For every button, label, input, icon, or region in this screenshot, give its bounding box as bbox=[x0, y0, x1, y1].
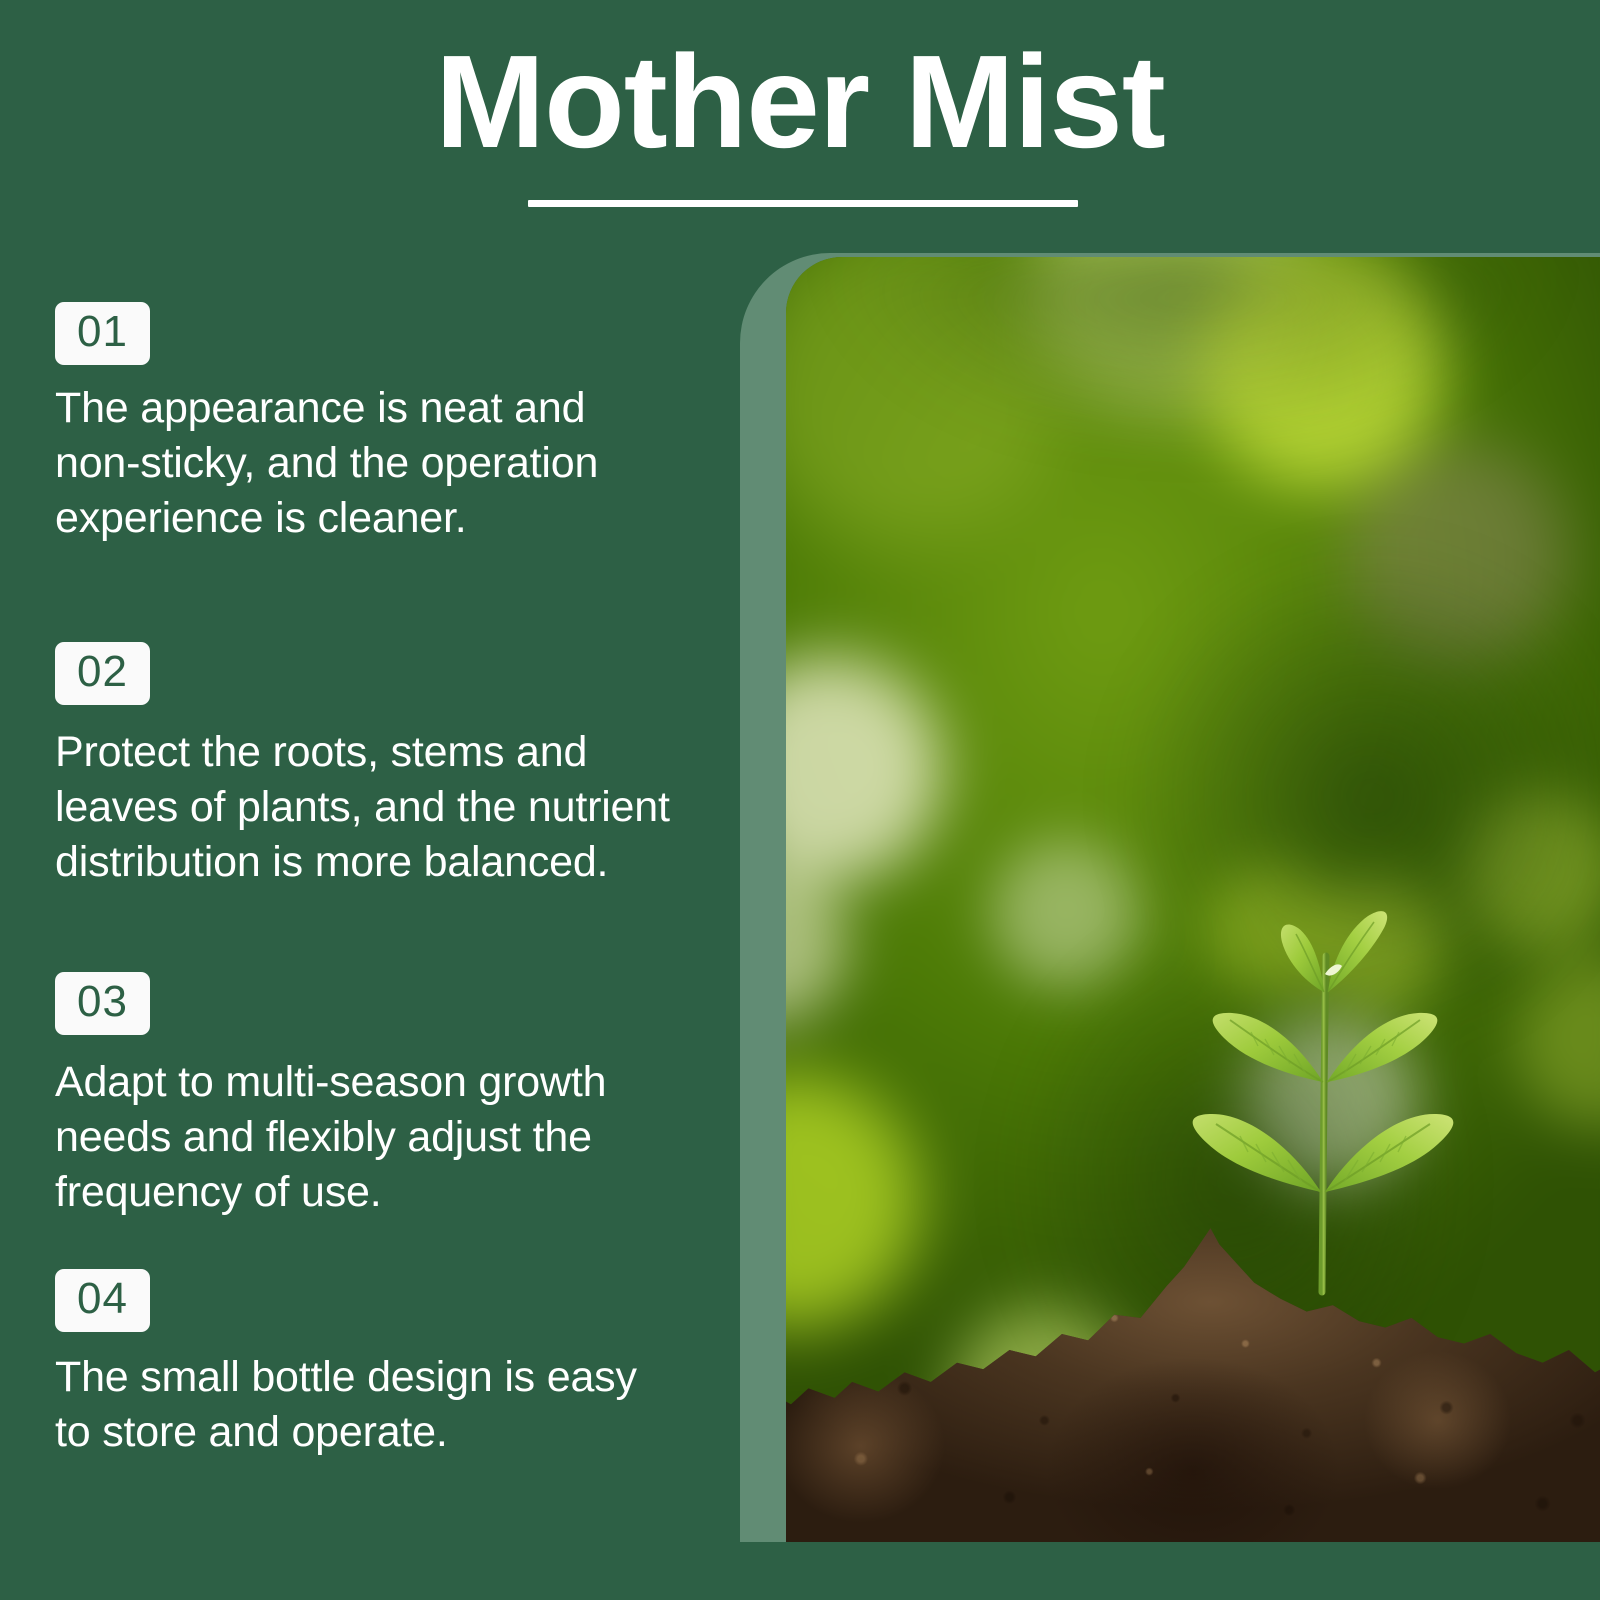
soil-mound-shape bbox=[786, 1222, 1600, 1542]
feature-number-badge-03: 03 bbox=[55, 972, 150, 1035]
seedling-photo bbox=[786, 257, 1600, 1542]
feature-item-03: 03 Adapt to multi-season growth needs an… bbox=[55, 972, 680, 1220]
feature-text-02: Protect the roots, stems and leaves of p… bbox=[55, 725, 680, 890]
title-underline-rule bbox=[528, 200, 1078, 207]
page-title: Mother Mist bbox=[0, 24, 1600, 180]
soil-mound bbox=[786, 1222, 1600, 1542]
feature-item-04: 04 The small bottle design is easy to st… bbox=[55, 1269, 680, 1460]
feature-text-03: Adapt to multi-season growth needs and f… bbox=[55, 1055, 680, 1220]
feature-item-01: 01 The appearance is neat and non-sticky… bbox=[55, 302, 680, 546]
feature-number-badge-02: 02 bbox=[55, 642, 150, 705]
soil-texture bbox=[786, 1222, 1600, 1542]
feature-item-02: 02 Protect the roots, stems and leaves o… bbox=[55, 642, 680, 890]
feature-list: 01 The appearance is neat and non-sticky… bbox=[0, 292, 700, 1552]
feature-number-badge-01: 01 bbox=[55, 302, 150, 365]
feature-text-01: The appearance is neat and non-sticky, a… bbox=[55, 381, 680, 546]
feature-text-04: The small bottle design is easy to store… bbox=[55, 1350, 680, 1460]
page-header: Mother Mist bbox=[0, 0, 1600, 250]
feature-number-badge-04: 04 bbox=[55, 1269, 150, 1332]
